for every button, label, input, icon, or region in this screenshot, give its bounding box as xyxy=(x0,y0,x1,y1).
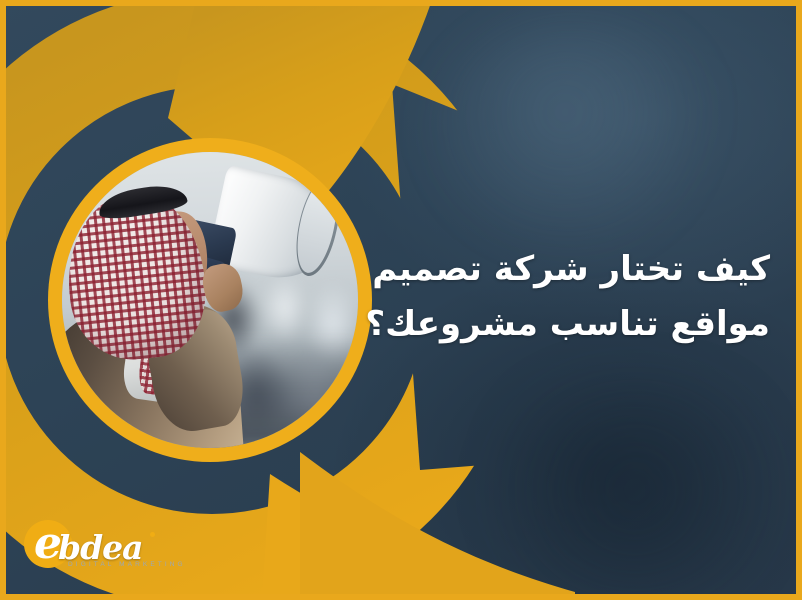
headline-line-1: كيف تختار شركة تصميم xyxy=(370,242,770,297)
banner-canvas: كيف تختار شركة تصميم مواقع تناسب مشروعك؟… xyxy=(0,0,802,600)
headline-block: كيف تختار شركة تصميم مواقع تناسب مشروعك؟ xyxy=(370,242,770,352)
logo-tagline: DIGITAL MARKETING xyxy=(68,561,186,568)
portrait-photo xyxy=(62,152,358,448)
headline-line-2: مواقع تناسب مشروعك؟ xyxy=(370,297,770,352)
brand-logo[interactable]: e bdea DIGITAL MARKETING xyxy=(24,516,174,578)
logo-accent-dot xyxy=(150,532,155,537)
